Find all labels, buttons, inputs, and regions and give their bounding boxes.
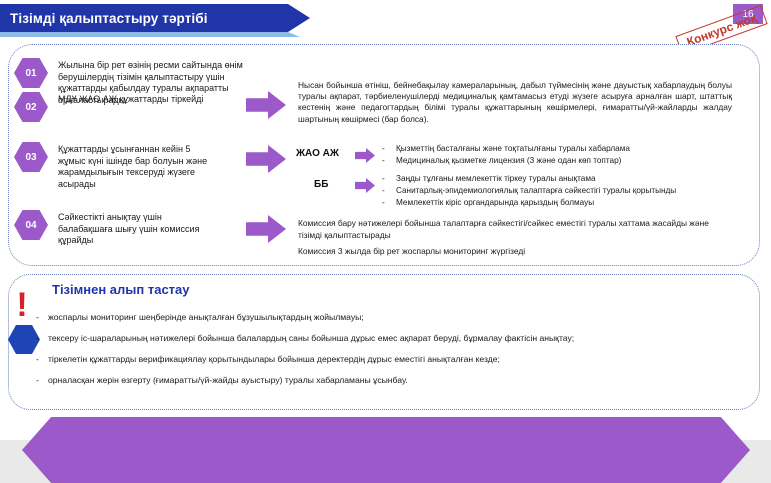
step-number-badge-01: 01 [14,58,48,88]
bullet-dash-icon: - [36,349,48,370]
bullet-dash-icon: - [36,370,48,391]
list-item: -Медициналық қызметке лицензия (3 және о… [382,155,630,167]
title-underline-accent [0,32,305,37]
group-label-bb: ББ [314,179,328,190]
required-documents-paragraph: Нысан бойынша өтініш, бейнебақылау камер… [298,80,732,125]
bullet-dash-icon: - [36,307,48,328]
step-text-04: Сәйкестікті анықтау үшін балабақшаға шығ… [58,210,208,247]
bullet-dash-icon: - [382,173,396,185]
list-item-label: орналасқан жерін өзгерту (ғимаратты/үй-ж… [48,375,408,385]
step-number-badge-04: 04 [14,210,48,240]
bullet-dash-icon: - [382,155,396,167]
list-item-label: Медициналық қызметке лицензия (3 және од… [396,156,621,165]
step-text-03: Құжаттарды ұсынғаннан кейін 5 жұмыс күні… [58,142,208,190]
list-item-label: Санитарлық-эпидемиологиялық талаптарға с… [396,186,676,195]
page-title: Тізімді қалыптастыру тәртібі [0,11,208,26]
process-step-03: 03 Құжаттарды ұсынғаннан кейін 5 жұмыс к… [14,142,284,190]
bullet-dash-icon: - [382,143,396,155]
list-item: -Мемлекеттік кіріс органдарында қарыздың… [382,197,676,209]
group-label-zhao-azh: ЖАО АЖ [296,148,339,159]
list-item: -орналасқан жерін өзгерту (ғимаратты/үй-… [36,370,746,391]
group-items-bb: -Заңды тұлғаны мемлекеттік тіркеу туралы… [382,173,676,209]
exclamation-icon: ! [14,288,30,322]
list-item: -Қызметтің басталғаны және тоқтатылғаны … [382,143,630,155]
list-item: -Санитарлық-эпидемиологиялық талаптарға … [382,185,676,197]
bullet-dash-icon: - [382,197,396,209]
bullet-dash-icon: - [36,328,48,349]
list-item: -Заңды тұлғаны мемлекеттік тіркеу туралы… [382,173,676,185]
slide-title-banner: Тізімді қалыптастыру тәртібі [0,4,310,32]
list-item-label: Мемлекеттік кіріс органдарында қарыздың … [396,198,594,207]
list-item-label: Заңды тұлғаны мемлекеттік тіркеу туралы … [396,174,596,183]
commission-protocol-text: Комиссия бару нәтижелері бойынша талапта… [298,218,726,241]
step-number-badge-03: 03 [14,142,48,172]
list-item: -жоспарлы мониторинг шеңберінде анықталғ… [36,307,746,328]
step-label-04: Сәйкестікті анықтау үшін балабақшаға шығ… [58,212,199,245]
list-item-label: тексеру іс-шараларының нәтижелері бойынш… [48,333,574,343]
list-item-label: Қызметтің басталғаны және тоқтатылғаны т… [396,144,630,153]
list-item: -тіркелетін құжаттарды верификациялау қо… [36,349,746,370]
step-label-02: МДҰ ЖАО АЖ құжаттарды тіркейді [58,94,203,104]
removal-reasons-list: -жоспарлы мониторинг шеңберінде анықталғ… [36,307,746,391]
list-item-label: тіркелетін құжаттарды верификациялау қор… [48,354,500,364]
step-text-02: МДҰ ЖАО АЖ құжаттарды тіркейді [58,92,273,106]
removal-title: Тізімнен алып тастау [52,282,190,297]
step-number-badge-02: 02 [14,92,48,122]
step-label-03: Құжаттарды ұсынғаннан кейін 5 жұмыс күні… [58,144,207,189]
commission-monitoring-text: Комиссия 3 жылда бір рет жоспарлы монито… [298,246,726,258]
process-step-02: 02 МДҰ ЖАО АЖ құжаттарды тіркейді [14,92,284,122]
list-item: -тексеру іс-шараларының нәтижелері бойын… [36,328,746,349]
process-step-04: 04 Сәйкестікті анықтау үшін балабақшаға … [14,210,284,247]
bottom-purple-hexagon [22,417,750,483]
list-item-label: жоспарлы мониторинг шеңберінде анықталға… [48,312,364,322]
group-items-zhao-azh: -Қызметтің басталғаны және тоқтатылғаны … [382,143,630,167]
bullet-dash-icon: - [382,185,396,197]
